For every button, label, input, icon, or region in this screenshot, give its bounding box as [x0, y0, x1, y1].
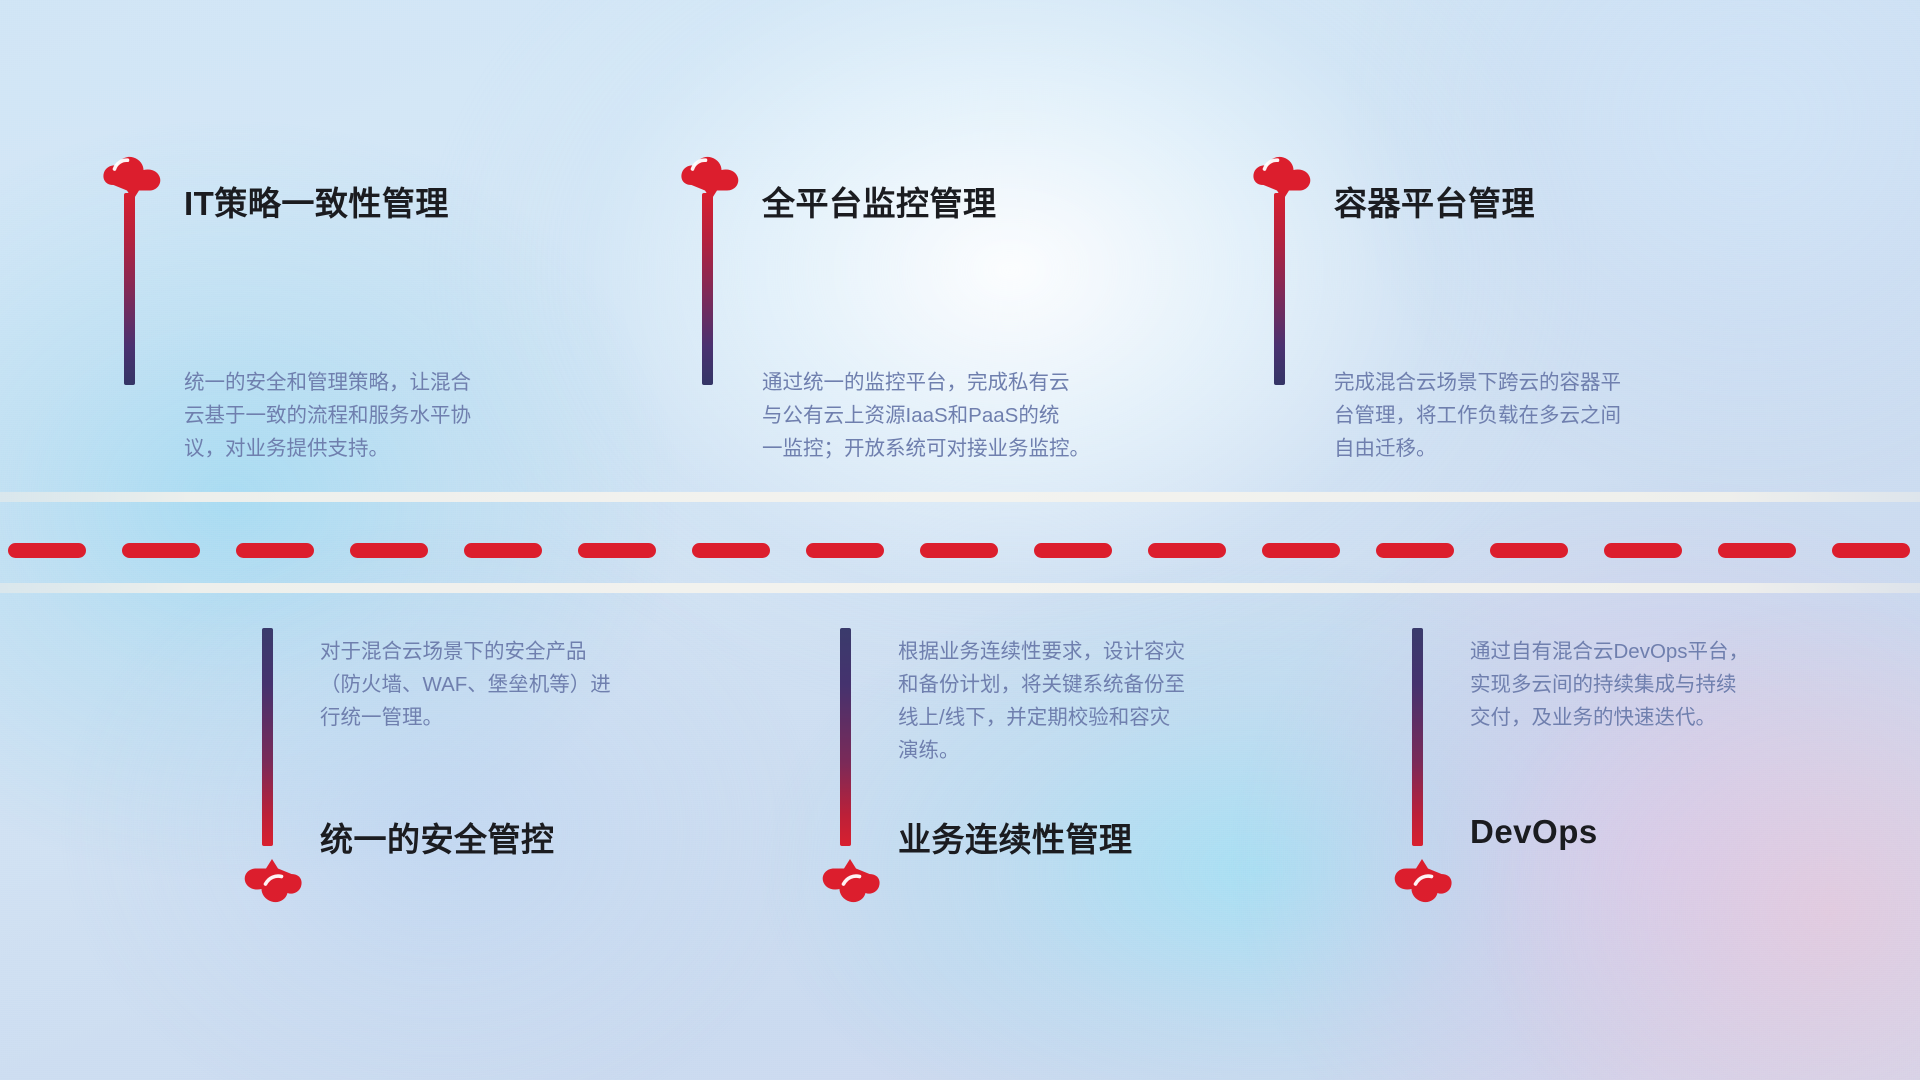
desc-line: 自由迁移。 [1334, 432, 1694, 465]
card-description: 统一的安全和管理策略，让混合 云基于一致的流程和服务水平协 议，对业务提供支持。 [184, 366, 544, 465]
road-dash [1148, 543, 1226, 558]
road-dash [1490, 543, 1568, 558]
road-dash [1604, 543, 1682, 558]
road-dash [350, 543, 428, 558]
card-description: 根据业务连续性要求，设计容灾 和备份计划，将关键系统备份至 线上/线下，并定期校… [898, 635, 1258, 767]
road-dash [578, 543, 656, 558]
road-edge-bottom [0, 583, 1920, 593]
desc-line: 实现多云间的持续集成与持续 [1470, 668, 1830, 701]
connector-stem [1412, 628, 1423, 846]
connector-stem [124, 193, 135, 385]
card-description: 通过自有混合云DevOps平台， 实现多云间的持续集成与持续 交付，及业务的快速… [1470, 635, 1830, 734]
desc-line: 议，对业务提供支持。 [184, 432, 544, 465]
road-edge-top [0, 492, 1920, 502]
desc-line: 通过自有混合云DevOps平台， [1470, 635, 1830, 668]
desc-line: 根据业务连续性要求，设计容灾 [898, 635, 1258, 668]
road-dash [1262, 543, 1340, 558]
desc-line: 和备份计划，将关键系统备份至 [898, 668, 1258, 701]
desc-line: 完成混合云场景下跨云的容器平 [1334, 366, 1694, 399]
cloud-pin-icon [1389, 842, 1455, 904]
desc-line: 云基于一致的流程和服务水平协 [184, 399, 544, 432]
card-title: 容器平台管理 [1334, 177, 1535, 225]
card-title: 业务连续性管理 [898, 813, 1133, 861]
desc-line: 交付，及业务的快速迭代。 [1470, 701, 1830, 734]
card-title: IT策略一致性管理 [184, 177, 449, 225]
road-dash [8, 543, 86, 558]
road-dash [1376, 543, 1454, 558]
desc-line: 与公有云上资源IaaS和PaaS的统 [762, 399, 1142, 432]
road-dash [1832, 543, 1910, 558]
road-dash [236, 543, 314, 558]
desc-line: 对于混合云场景下的安全产品 [320, 635, 680, 668]
connector-stem [1274, 193, 1285, 385]
connector-stem [262, 628, 273, 846]
road-dash [122, 543, 200, 558]
card-title: 统一的安全管控 [320, 813, 555, 861]
card-title: DevOps [1470, 813, 1598, 851]
road-dash [464, 543, 542, 558]
desc-line: 行统一管理。 [320, 701, 680, 734]
infographic-canvas: IT策略一致性管理 统一的安全和管理策略，让混合 云基于一致的流程和服务水平协 … [0, 0, 1920, 1080]
background-texture [0, 0, 1920, 1080]
desc-line: （防火墙、WAF、堡垒机等）进 [320, 668, 680, 701]
connector-stem [702, 193, 713, 385]
desc-line: 线上/线下，并定期校验和容灾 [898, 701, 1258, 734]
desc-line: 统一的安全和管理策略，让混合 [184, 366, 544, 399]
road-dashed-centerline [0, 542, 1920, 558]
connector-stem [840, 628, 851, 846]
road-dash [1718, 543, 1796, 558]
road-dash [1034, 543, 1112, 558]
road-dash [806, 543, 884, 558]
cloud-pin-icon [817, 842, 883, 904]
road-dash [920, 543, 998, 558]
card-description: 通过统一的监控平台，完成私有云 与公有云上资源IaaS和PaaS的统 一监控；开… [762, 366, 1142, 465]
card-description: 对于混合云场景下的安全产品 （防火墙、WAF、堡垒机等）进 行统一管理。 [320, 635, 680, 734]
desc-line: 台管理，将工作负载在多云之间 [1334, 399, 1694, 432]
desc-line: 演练。 [898, 734, 1258, 767]
desc-line: 一监控；开放系统可对接业务监控。 [762, 432, 1142, 465]
card-title: 全平台监控管理 [762, 177, 997, 225]
card-description: 完成混合云场景下跨云的容器平 台管理，将工作负载在多云之间 自由迁移。 [1334, 366, 1694, 465]
cloud-pin-icon [239, 842, 305, 904]
road-dash [692, 543, 770, 558]
desc-line: 通过统一的监控平台，完成私有云 [762, 366, 1142, 399]
